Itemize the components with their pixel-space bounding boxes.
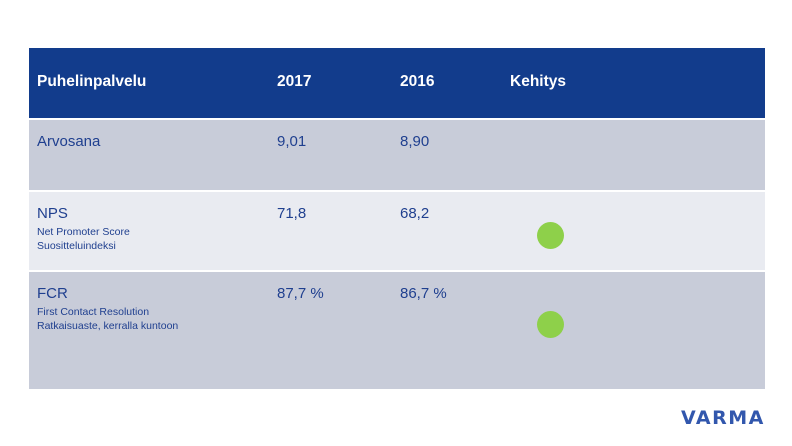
metric-subtitle: Net Promoter Score Suositteluindeksi	[37, 226, 130, 254]
varma-logo: VARMA	[681, 409, 765, 428]
metrics-table: Puhelinpalvelu 2017 2016 Kehitys Arvosan…	[29, 48, 765, 387]
column-header-2016: 2016	[400, 74, 434, 90]
metric-subtitle: First Contact Resolution Ratkaisuaste, k…	[37, 306, 178, 334]
trend-green-dot-icon	[537, 222, 564, 249]
table-header-row: Puhelinpalvelu 2017 2016 Kehitys	[29, 48, 765, 118]
column-header-2017: 2017	[277, 74, 311, 90]
metric-value-2017: 71,8	[277, 206, 306, 221]
metric-value-2016: 8,90	[400, 134, 429, 149]
metric-value-2016: 86,7 %	[400, 286, 447, 301]
table-row: FCR First Contact Resolution Ratkaisuast…	[29, 272, 765, 389]
slide-canvas: Puhelinpalvelu 2017 2016 Kehitys Arvosan…	[0, 0, 792, 446]
metric-name: NPS	[37, 206, 130, 221]
table-row: Arvosana 9,01 8,90	[29, 120, 765, 190]
metric-value-2017: 9,01	[277, 134, 306, 149]
metric-name: FCR	[37, 286, 178, 301]
column-header-kehitys: Kehitys	[510, 74, 566, 90]
metric-value-2016: 68,2	[400, 206, 429, 221]
metric-value-2017: 87,7 %	[277, 286, 324, 301]
metric-name: Arvosana	[37, 134, 100, 149]
trend-green-dot-icon	[537, 311, 564, 338]
column-header-puhelinpalvelu: Puhelinpalvelu	[37, 74, 146, 90]
table-row: NPS Net Promoter Score Suositteluindeksi…	[29, 192, 765, 270]
